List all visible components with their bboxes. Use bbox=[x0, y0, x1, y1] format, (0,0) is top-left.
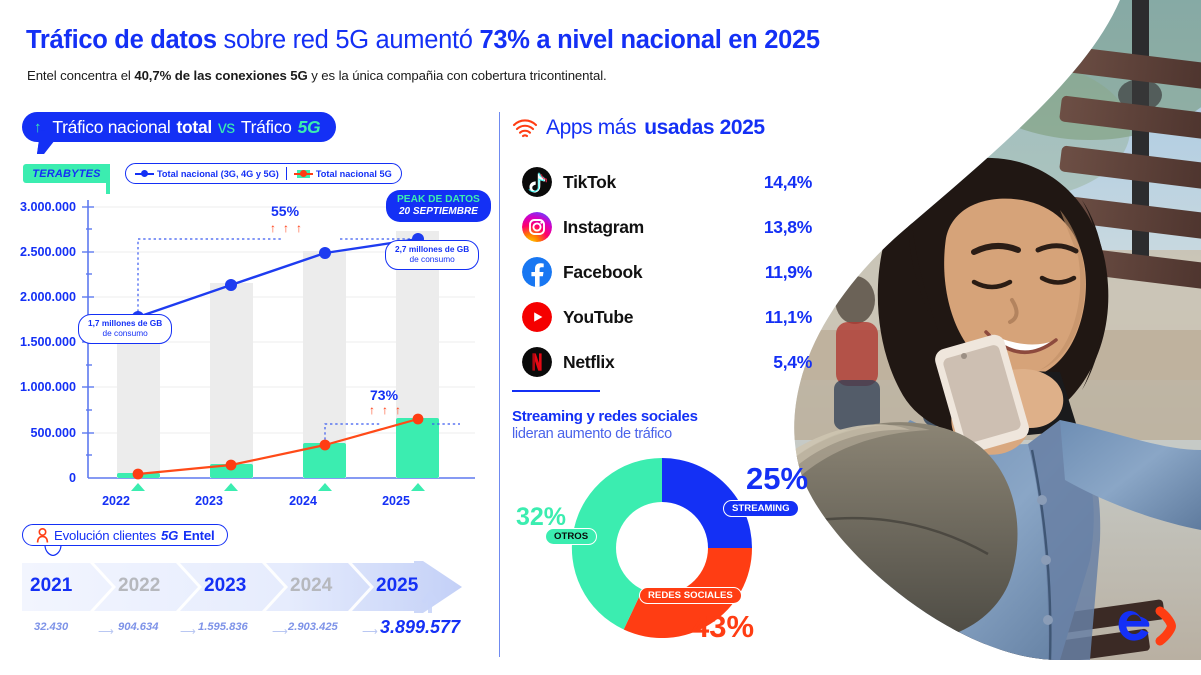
ytick-500000: 500.000 bbox=[30, 426, 76, 440]
timeline-title-text-1: Evolución clientes bbox=[54, 528, 156, 543]
instagram-icon bbox=[522, 212, 552, 242]
chart-legend: Total nacional (3G, 4G y 5G) Total nacio… bbox=[125, 163, 402, 184]
chart-title-strong: total bbox=[177, 117, 212, 138]
growth-label-total: 55% bbox=[271, 203, 299, 219]
legend-item-5g[interactable]: Total nacional 5G bbox=[294, 169, 392, 179]
timeline-arrow-4-icon: ⟶ bbox=[362, 625, 378, 638]
apps-section-title: Apps más usadas 2025 bbox=[512, 116, 765, 140]
youtube-icon bbox=[522, 302, 552, 332]
page-subtitle: Entel concentra el 40,7% de las conexion… bbox=[27, 68, 807, 83]
app-row-tiktok[interactable]: TikTok 14,4% bbox=[522, 167, 812, 197]
chart-title-text-2: Tráfico bbox=[241, 117, 292, 138]
ytick-1500000: 1.500.000 bbox=[20, 335, 76, 349]
app-name-tiktok: TikTok bbox=[563, 172, 616, 193]
app-name-netflix: Netflix bbox=[563, 352, 614, 373]
timeline-year-2021: 2021 bbox=[30, 575, 72, 597]
page-title-strong-2: 73% a nivel nacional en 2025 bbox=[479, 26, 819, 54]
page-title-strong-1: Tráfico de datos bbox=[26, 26, 217, 54]
timeline-pill-tail bbox=[44, 545, 62, 556]
hero-photo bbox=[760, 0, 1201, 660]
units-badge: TERABYTES bbox=[23, 164, 110, 183]
ytick-1000000: 1.000.000 bbox=[20, 380, 76, 394]
timeline-year-2022: 2022 bbox=[118, 575, 160, 597]
up-down-arrows-icon: ↑↓ bbox=[34, 120, 46, 135]
donut-tag-redes: REDES SOCIALES bbox=[639, 587, 742, 604]
timeline-value-2022: 904.634 bbox=[118, 621, 158, 633]
app-row-youtube[interactable]: YouTube 11,1% bbox=[522, 302, 812, 332]
person-icon bbox=[36, 528, 49, 543]
growth-arrows-5g-icon: ↑↑↑ bbox=[369, 404, 401, 416]
series-total-points bbox=[132, 233, 424, 323]
series-total-line bbox=[138, 239, 418, 317]
timeline-value-2023: 1.595.836 bbox=[198, 621, 248, 633]
xtick-2022: 2022 bbox=[102, 494, 130, 508]
timeline-title-pill: Evolución clientes 5G Entel bbox=[22, 524, 228, 546]
app-pct-instagram: 13,8% bbox=[764, 217, 812, 238]
donut-title: Streaming y redes sociales bbox=[512, 408, 698, 425]
xtick-2024: 2024 bbox=[289, 494, 317, 508]
donut-tag-streaming: STREAMING bbox=[723, 500, 799, 517]
timeline-arrow-1-icon: ⟶ bbox=[98, 625, 114, 638]
timeline-year-2025: 2025 bbox=[376, 575, 418, 597]
donut-value-redes: 43% bbox=[692, 609, 754, 645]
timeline-year-2023: 2023 bbox=[204, 575, 246, 597]
timeline-year-2024: 2024 bbox=[290, 575, 332, 597]
wifi-icon bbox=[512, 118, 538, 138]
legend-item-total[interactable]: Total nacional (3G, 4G y 5G) bbox=[135, 169, 279, 179]
legend-divider bbox=[286, 167, 287, 180]
subtitle-text-2: y es la única compañia con cobertura tri… bbox=[308, 68, 607, 83]
xaxis-markers bbox=[131, 483, 425, 491]
apps-title-text-1: Apps más bbox=[546, 116, 636, 140]
app-pct-facebook: 11,9% bbox=[765, 262, 812, 283]
panel-divider-vertical bbox=[499, 112, 500, 657]
app-pct-netflix: 5,4% bbox=[773, 352, 812, 373]
app-row-instagram[interactable]: Instagram 13,8% bbox=[522, 212, 812, 242]
apps-title-text-2: usadas 2025 bbox=[644, 116, 765, 140]
callout-2022: 1,7 millones de GB de consumo bbox=[78, 314, 172, 344]
app-row-netflix[interactable]: Netflix 5,4% bbox=[522, 347, 812, 377]
subtitle-strong: 40,7% de las conexiones 5G bbox=[134, 68, 307, 83]
peak-badge-line1: PEAK DE DATOS bbox=[397, 194, 480, 206]
timeline-value-2024: 2.903.425 bbox=[288, 621, 338, 633]
growth-arrows-total-icon: ↑↑↑ bbox=[270, 222, 302, 234]
callout-2022-line2: de consumo bbox=[88, 329, 162, 339]
app-name-instagram: Instagram bbox=[563, 217, 644, 238]
app-pct-youtube: 11,1% bbox=[765, 307, 812, 328]
ytick-2000000: 2.000.000 bbox=[20, 290, 76, 304]
timeline-values: 32.430 ⟶ 904.634 ⟶ 1.595.836 ⟶ 2.903.425… bbox=[22, 621, 472, 643]
app-row-facebook[interactable]: Facebook 11,9% bbox=[522, 257, 812, 287]
callout-2025: 2,7 millones de GB de consumo bbox=[385, 240, 479, 270]
entel-logo bbox=[1118, 604, 1180, 648]
timeline-arrow-band: 2021 2022 2023 2024 2025 bbox=[22, 561, 462, 613]
chart-title-vs: vs bbox=[218, 117, 235, 138]
timeline-arrow-3-icon: ⟶ bbox=[272, 625, 288, 638]
facebook-icon bbox=[522, 257, 552, 287]
ytick-0: 0 bbox=[69, 471, 76, 485]
ytick-2500000: 2.500.000 bbox=[20, 245, 76, 259]
peak-badge: PEAK DE DATOS 20 SEPTIEMBRE bbox=[386, 190, 491, 222]
chart-title-5g: 5G bbox=[298, 117, 321, 138]
growth-label-5g: 73% bbox=[370, 387, 398, 403]
callout-2025-line2: de consumo bbox=[395, 255, 469, 265]
app-name-youtube: YouTube bbox=[563, 307, 633, 328]
peak-badge-line2: 20 SEPTIEMBRE bbox=[397, 206, 480, 218]
chart-title-pill: ↑↓ Tráfico nacional total vs Tráfico 5G bbox=[22, 112, 336, 142]
app-pct-tiktok: 14,4% bbox=[764, 172, 812, 193]
annotation-bracket-55 bbox=[138, 239, 418, 317]
legend-label-5g: Total nacional 5G bbox=[316, 169, 392, 179]
panel-divider-horizontal bbox=[512, 390, 600, 392]
infographic-canvas: Tráfico de datos sobre red 5G aumentó 73… bbox=[0, 0, 1201, 675]
timeline-value-2021: 32.430 bbox=[34, 621, 68, 633]
subtitle-text-1: Entel concentra el bbox=[27, 68, 134, 83]
page-title-mid: sobre red 5G aumentó bbox=[217, 26, 480, 54]
page-title: Tráfico de datos sobre red 5G aumentó 73… bbox=[26, 26, 786, 55]
timeline-title-text-2: Entel bbox=[183, 528, 214, 543]
ytick-3000000: 3.000.000 bbox=[20, 200, 76, 214]
timeline-value-2025: 3.899.577 bbox=[380, 617, 460, 638]
pill-tail-traffic bbox=[37, 140, 55, 154]
xtick-2025: 2025 bbox=[382, 494, 410, 508]
netflix-icon bbox=[522, 347, 552, 377]
donut-subtitle: lideran aumento de tráfico bbox=[512, 426, 672, 442]
donut-value-streaming: 25% bbox=[746, 461, 808, 497]
legend-marker-total-icon bbox=[135, 169, 154, 179]
series-5g-line bbox=[138, 419, 418, 474]
legend-marker-5g-icon bbox=[294, 169, 313, 179]
donut-tag-otros: OTROS bbox=[545, 528, 597, 545]
timeline-title-5g: 5G bbox=[161, 528, 178, 543]
app-name-facebook: Facebook bbox=[563, 262, 642, 283]
chart-title-text-1: Tráfico nacional bbox=[52, 117, 170, 138]
xtick-2023: 2023 bbox=[195, 494, 223, 508]
timeline-arrow-2-icon: ⟶ bbox=[180, 625, 196, 638]
legend-label-total: Total nacional (3G, 4G y 5G) bbox=[157, 169, 279, 179]
tiktok-icon bbox=[522, 167, 552, 197]
